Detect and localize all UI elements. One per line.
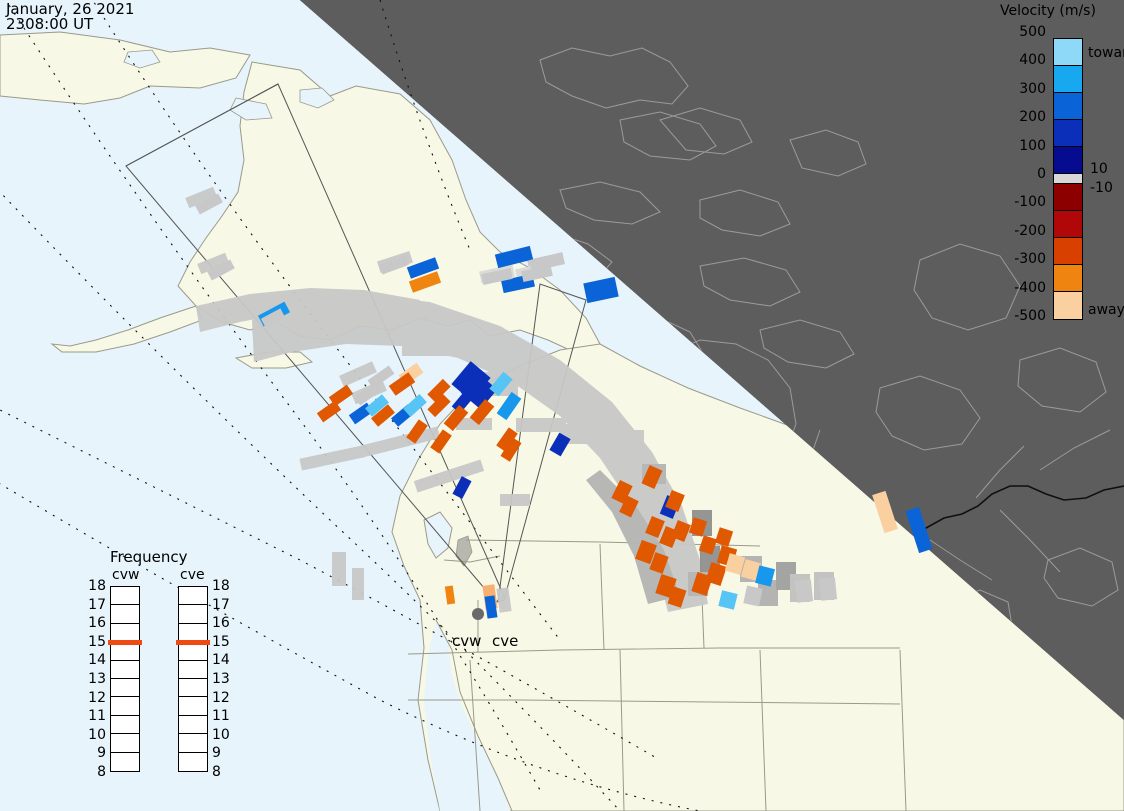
frequency-scale-label-left: 16 — [84, 615, 106, 631]
colorbar-segment[interactable] — [1054, 211, 1082, 238]
frequency-scale-label-right: 13 — [212, 671, 234, 687]
colorbar-segment[interactable] — [1054, 120, 1082, 147]
frequency-legend[interactable]: Frequency cvw cve 1818171716161515141413… — [86, 548, 236, 784]
frequency-scale-label-right: 16 — [212, 615, 234, 631]
frequency-scale-label-left: 12 — [84, 690, 106, 706]
colorbar-segment[interactable] — [1054, 39, 1082, 66]
colorbar-title: Velocity (m/s) — [1000, 3, 1096, 19]
colorbar-tick: -500 — [1004, 308, 1046, 324]
colorbar-zero-lower-label: -10 — [1090, 180, 1113, 196]
colorbar-tick: -200 — [1004, 223, 1046, 239]
site-label-cve: cve — [492, 632, 518, 650]
frequency-segment — [111, 661, 139, 679]
colorbar-tick: 400 — [1004, 52, 1046, 68]
colorbar-segment[interactable] — [1054, 66, 1082, 93]
frequency-scale-label-right: 18 — [212, 578, 234, 594]
frequency-segment — [179, 753, 207, 771]
colorbar-segment[interactable] — [1054, 147, 1082, 174]
colorbar-tick: 300 — [1004, 81, 1046, 97]
frequency-scale-label-left: 11 — [84, 708, 106, 724]
colorbar-segment[interactable] — [1054, 265, 1082, 292]
frequency-segment — [179, 661, 207, 679]
frequency-bar-cve[interactable] — [178, 586, 208, 772]
timestamp: January, 26 2021 2308:00 UT — [6, 2, 134, 32]
frequency-scale-label-left: 15 — [84, 634, 106, 650]
colorbar-toward-label: toward — [1088, 45, 1124, 61]
velocity-colorbar[interactable] — [1053, 38, 1083, 320]
radar-site-marker[interactable] — [472, 608, 484, 620]
frequency-segment — [179, 697, 207, 715]
frequency-segment — [111, 734, 139, 752]
frequency-scale-label-left: 10 — [84, 727, 106, 743]
frequency-segment — [111, 587, 139, 605]
frequency-scale-label-right: 10 — [212, 727, 234, 743]
frequency-scale-label-left: 8 — [84, 764, 106, 780]
colorbar-tick: 500 — [1004, 24, 1046, 40]
frequency-scale-label-left: 18 — [84, 578, 106, 594]
superdarn-map-view: January, 26 2021 2308:00 UT Velocity (m/… — [0, 0, 1124, 811]
frequency-scale-label-right: 12 — [212, 690, 234, 706]
frequency-scale-label-right: 14 — [212, 652, 234, 668]
frequency-segment — [111, 679, 139, 697]
colorbar-segment[interactable] — [1054, 238, 1082, 265]
colorbar-segment[interactable] — [1054, 292, 1082, 319]
timestamp-time: 2308:00 UT — [6, 17, 134, 32]
frequency-segment — [179, 605, 207, 623]
frequency-segment — [111, 605, 139, 623]
frequency-segment — [179, 679, 207, 697]
site-label-cvw: cvw — [452, 632, 481, 650]
colorbar-tick: 100 — [1004, 138, 1046, 154]
frequency-segment — [179, 642, 207, 660]
frequency-scale-label-left: 9 — [84, 745, 106, 761]
colorbar-away-label: away — [1088, 302, 1124, 318]
colorbar-tick: -300 — [1004, 251, 1046, 267]
velocity-cell[interactable] — [795, 579, 813, 603]
frequency-segment — [179, 716, 207, 734]
frequency-scale-label-right: 17 — [212, 597, 234, 613]
frequency-bar-label-cvw: cvw — [112, 567, 139, 583]
frequency-scale-label-left: 14 — [84, 652, 106, 668]
frequency-segment — [111, 642, 139, 660]
frequency-segment — [179, 734, 207, 752]
colorbar-segment[interactable] — [1054, 184, 1082, 211]
frequency-segment — [179, 587, 207, 605]
frequency-marker-cve — [176, 640, 210, 645]
frequency-bar-label-cve: cve — [180, 567, 205, 583]
colorbar-tick: -400 — [1004, 280, 1046, 296]
colorbar-tick: 0 — [1004, 166, 1046, 182]
frequency-scale-label-right: 8 — [212, 764, 234, 780]
frequency-scale-label-left: 13 — [84, 671, 106, 687]
colorbar-zero-band — [1054, 174, 1082, 183]
colorbar-tick: -100 — [1004, 194, 1046, 210]
frequency-legend-title: Frequency — [110, 548, 188, 566]
frequency-scale-label-left: 17 — [84, 597, 106, 613]
colorbar-tick: 200 — [1004, 109, 1046, 125]
frequency-marker-cvw — [108, 640, 142, 645]
frequency-scale-label-right: 9 — [212, 745, 234, 761]
frequency-segment — [111, 753, 139, 771]
frequency-scale-label-right: 11 — [212, 708, 234, 724]
velocity-cell[interactable] — [819, 577, 837, 601]
frequency-bar-cvw[interactable] — [110, 586, 140, 772]
frequency-segment — [111, 697, 139, 715]
frequency-segment — [111, 716, 139, 734]
colorbar-zero-upper-label: 10 — [1090, 161, 1108, 177]
frequency-scale-label-right: 15 — [212, 634, 234, 650]
colorbar-segment[interactable] — [1054, 93, 1082, 120]
